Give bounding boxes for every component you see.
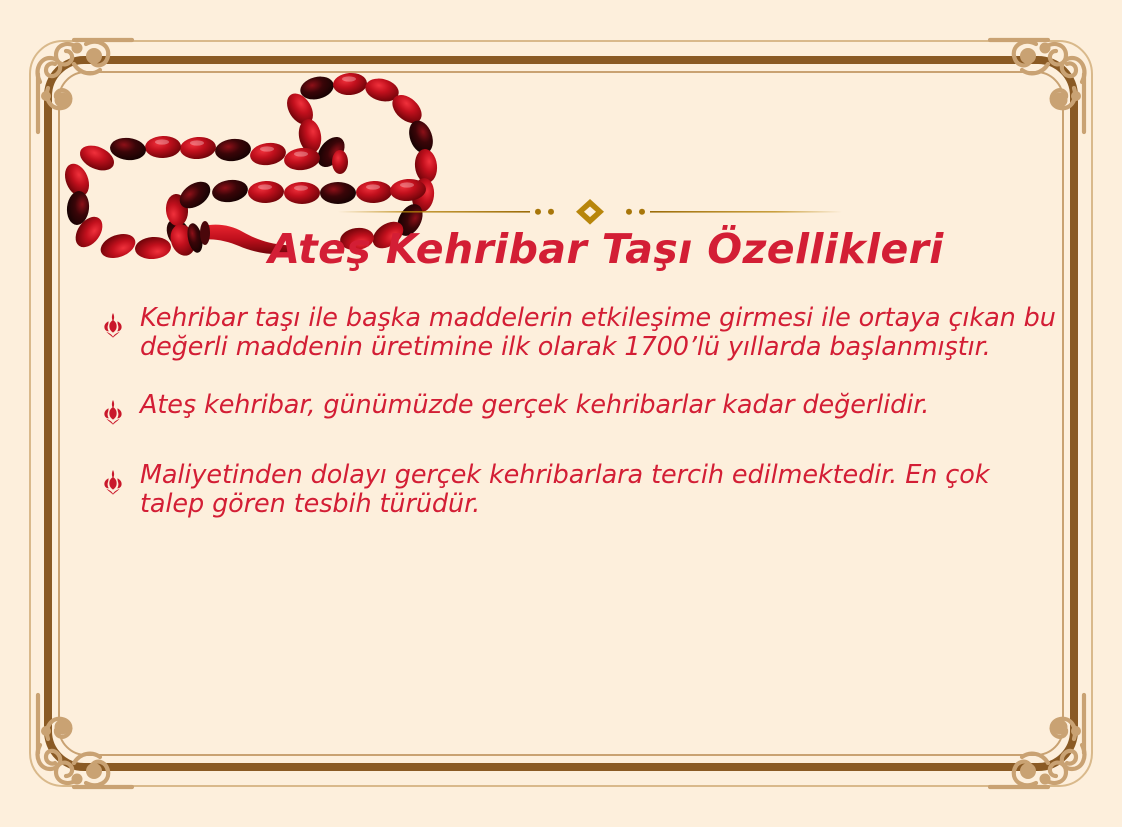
list-item: Ateş kehribar, günümüzde gerçek kehribar…	[100, 391, 1060, 425]
fleur-de-lis-bullet-icon	[100, 391, 140, 425]
page-title: Ateş Kehribar Taşı Özellikleri	[0, 225, 1122, 273]
list-item: Kehribar taşı ile başka maddelerin etkil…	[100, 304, 1060, 361]
list-item-text: Maliyetinden dolayı gerçek kehribarlara …	[140, 461, 1060, 518]
fleur-de-lis-bullet-icon	[100, 461, 140, 495]
corner-ornament-top-left	[4, 4, 154, 154]
fleur-de-lis-bullet-icon	[100, 304, 140, 338]
corner-ornament-bottom-left	[4, 673, 154, 823]
diamond-divider-ornament	[338, 198, 842, 226]
corner-ornament-bottom-right	[968, 673, 1118, 823]
list-item-text: Ateş kehribar, günümüzde gerçek kehribar…	[140, 391, 1060, 420]
info-card: Ateş Kehribar Taşı Özellikleri Kehribar …	[0, 0, 1122, 827]
list-item: Maliyetinden dolayı gerçek kehribarlara …	[100, 461, 1060, 518]
features-list: Kehribar taşı ile başka maddelerin etkil…	[100, 304, 1060, 548]
corner-ornament-top-right	[968, 4, 1118, 154]
list-item-text: Kehribar taşı ile başka maddelerin etkil…	[140, 304, 1060, 361]
